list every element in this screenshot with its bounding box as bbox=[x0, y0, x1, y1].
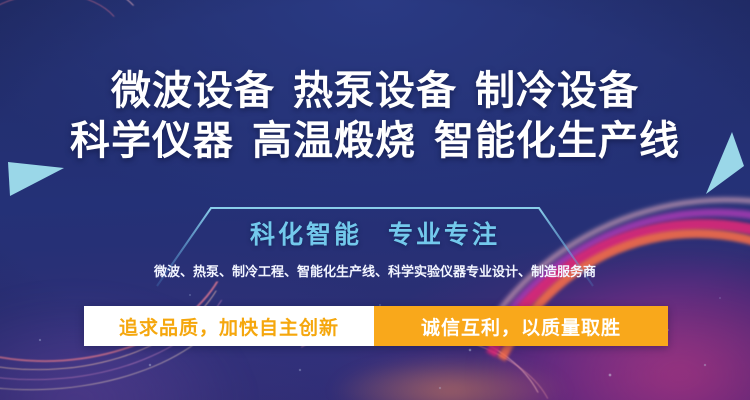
headline-block: 微波设备热泵设备制冷设备 科学仪器高温煅烧智能化生产线 bbox=[0, 66, 750, 166]
slogan-left-button[interactable]: 追求品质，加快自主创新 bbox=[84, 306, 374, 346]
subtitle-cyan-part-1: 科化智能 bbox=[250, 221, 362, 249]
promo-banner: 微波设备热泵设备制冷设备 科学仪器高温煅烧智能化生产线 科化智能专业专注 微波、… bbox=[0, 0, 750, 400]
headline-word-2: 热泵设备 bbox=[293, 69, 457, 113]
subtitle-cyan: 科化智能专业专注 bbox=[0, 218, 750, 252]
subtitle-description: 微波、热泵、制冷工程、智能化生产线、科学实验仪器专业设计、制造服务商 bbox=[0, 263, 750, 281]
headline-word-1: 微波设备 bbox=[111, 69, 275, 113]
headline-word-6: 智能化生产线 bbox=[434, 119, 680, 163]
slogan-right-button[interactable]: 诚信互利，以质量取胜 bbox=[374, 306, 668, 346]
headline-word-3: 制冷设备 bbox=[475, 69, 639, 113]
slogan-bar: 追求品质，加快自主创新 诚信互利，以质量取胜 bbox=[84, 306, 668, 346]
headline-line-2: 科学仪器高温煅烧智能化生产线 bbox=[0, 116, 750, 166]
subtitle-cyan-part-2: 专业专注 bbox=[388, 221, 500, 249]
headline-line-1: 微波设备热泵设备制冷设备 bbox=[0, 66, 750, 116]
headline-word-5: 高温煅烧 bbox=[252, 119, 416, 163]
headline-word-4: 科学仪器 bbox=[70, 119, 234, 163]
